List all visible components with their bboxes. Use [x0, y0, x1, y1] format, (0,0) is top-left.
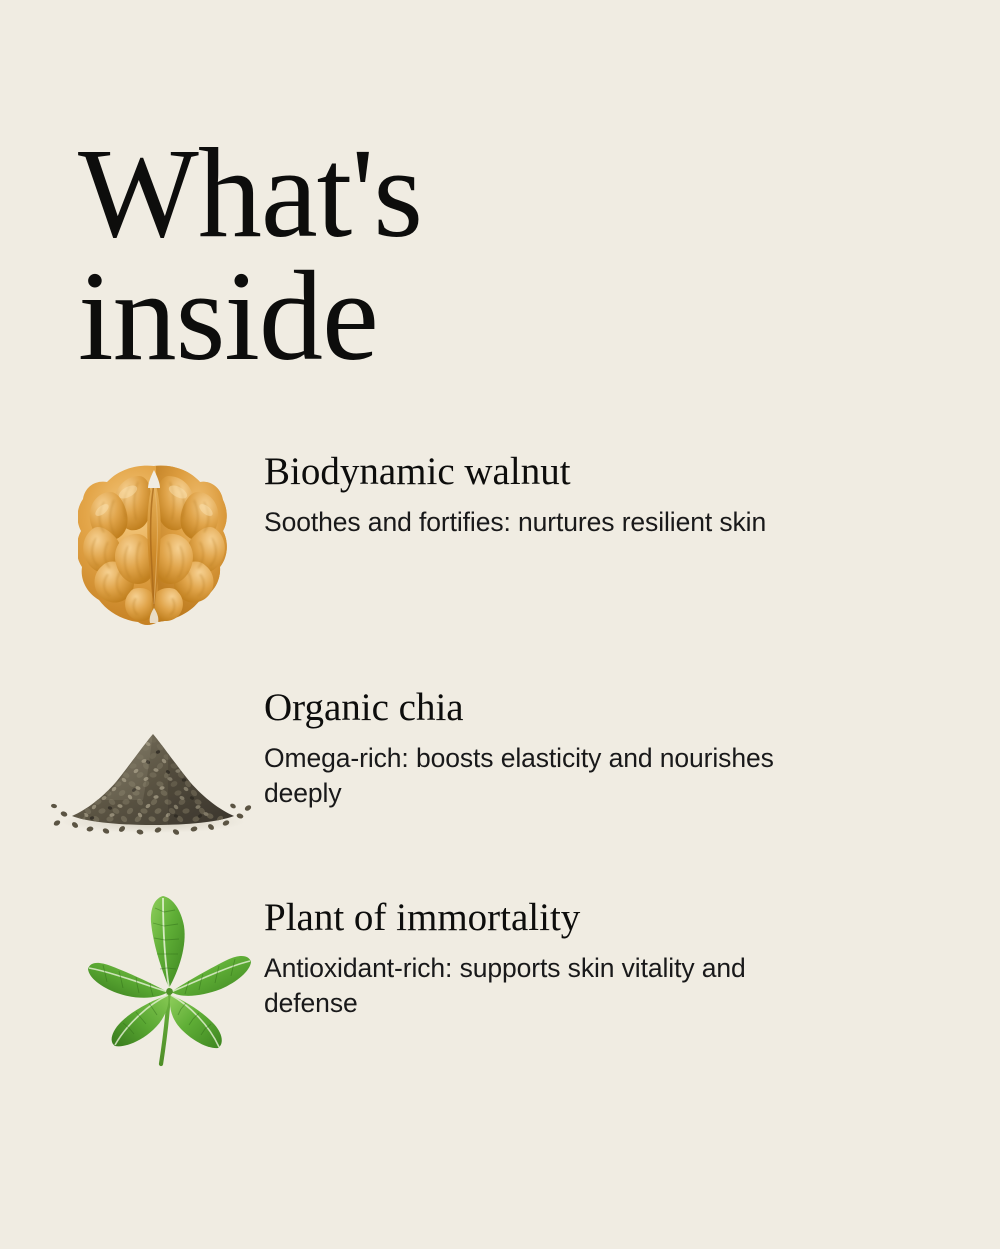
chia-seed-pile-icon [48, 728, 258, 838]
ingredient-description: Soothes and fortifies: nurtures resilien… [264, 505, 784, 540]
ingredient-copy: Organic chia Omega-rich: boosts elastici… [264, 688, 784, 811]
ingredient-artwork [40, 688, 255, 873]
ingredient-description: Antioxidant-rich: supports skin vitality… [264, 951, 784, 1021]
ingredient-copy: Biodynamic walnut Soothes and fortifies:… [264, 452, 784, 540]
page-title: What's inside [78, 132, 678, 378]
jiaogulan-leaf-icon [85, 892, 255, 1077]
whats-inside-panel: What's inside [0, 0, 1000, 1249]
ingredient-description: Omega-rich: boosts elasticity and nouris… [264, 741, 784, 811]
ingredient-title: Biodynamic walnut [264, 452, 784, 491]
ingredient-copy: Plant of immortality Antioxidant-rich: s… [264, 898, 784, 1021]
ingredient-artwork [40, 898, 255, 1083]
ingredient-artwork [40, 452, 255, 637]
ingredient-title: Plant of immortality [264, 898, 784, 937]
walnut-kernel-icon [78, 462, 230, 628]
ingredient-title: Organic chia [264, 688, 784, 727]
